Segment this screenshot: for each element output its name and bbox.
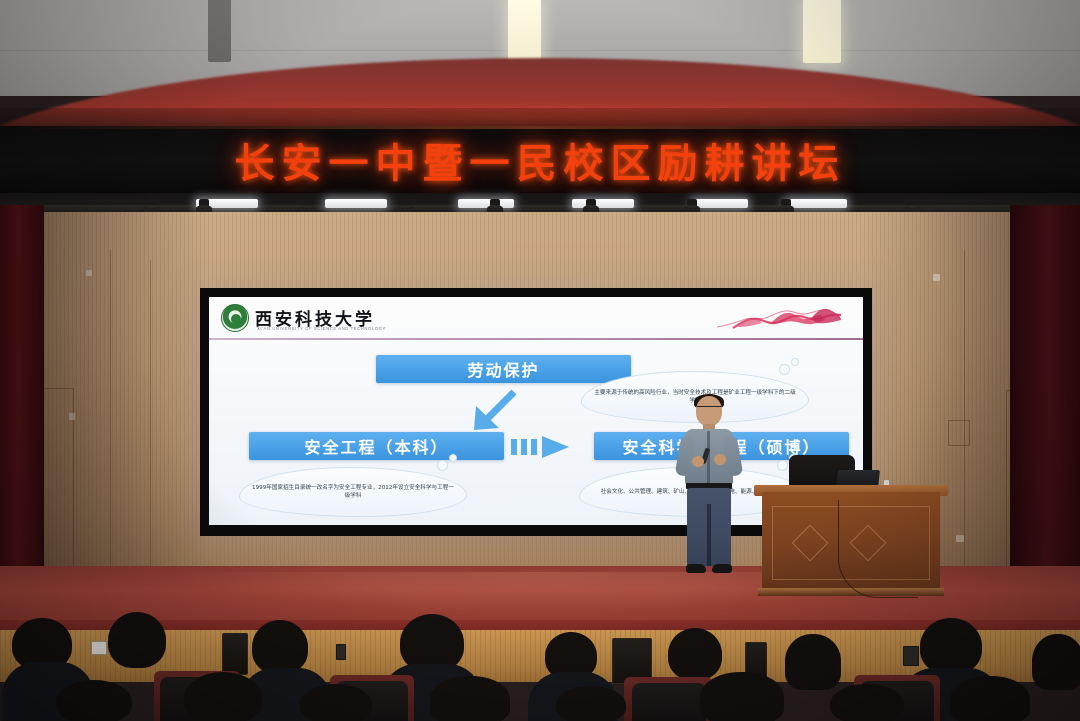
floor-cable — [838, 500, 918, 598]
audience-head-front — [830, 684, 904, 721]
audience-head-front — [556, 686, 626, 721]
audience-head-front — [300, 684, 372, 721]
led-banner: 长安一中暨一民校区励耕讲坛 — [0, 126, 1080, 194]
university-logo-icon — [221, 304, 249, 332]
audience-head — [1032, 634, 1080, 690]
led-banner-text: 长安一中暨一民校区励耕讲坛 — [235, 131, 846, 189]
header-divider — [209, 338, 863, 340]
slide-callout-bottom-left: 1999年国家招生目录统一改名字为安全工程专业，2012年设立安全科学与工程一级… — [239, 467, 467, 517]
striped-right-arrow-icon — [509, 435, 579, 459]
ceiling-light-strip-3 — [803, 0, 841, 63]
mountain-landscape-icon — [715, 306, 843, 332]
presenter-hand-left — [692, 456, 704, 467]
truss-led-strip — [572, 199, 634, 208]
presenter-leg-gap — [707, 504, 711, 566]
led-banner-gleam — [0, 126, 1080, 129]
truss-led-strip — [458, 199, 514, 208]
presenter-shoe-right — [712, 564, 732, 573]
truss-led-strip — [325, 199, 387, 208]
presenter-head — [696, 396, 722, 426]
audience-head-front — [430, 676, 510, 721]
slide-box-labor-protection: 劳动保护 — [376, 355, 631, 383]
stage-curtain-right — [1010, 205, 1080, 615]
ceiling-light-strip-2 — [508, 0, 541, 62]
audience-head — [108, 612, 166, 668]
audience-head-front — [56, 680, 132, 721]
presenter — [672, 396, 746, 582]
wall-speaker-left — [222, 633, 248, 675]
slide-header: 西安科技大学 XI'AN UNIVERSITY OF SCIENCE AND T… — [209, 297, 863, 339]
audience-seat-back — [632, 683, 706, 721]
glasses-icon — [697, 406, 721, 411]
audience-head-front — [184, 672, 262, 721]
presenter-shoe-left — [686, 564, 706, 573]
ceiling-light-strip-1 — [208, 0, 231, 62]
wall-panel-dark — [336, 644, 346, 660]
audience-head — [920, 618, 982, 674]
audience-head — [785, 634, 841, 690]
truss-led-strip — [692, 199, 748, 208]
presenter-hand-right — [714, 454, 726, 465]
wall-panel-dark — [903, 646, 919, 666]
wall-switch[interactable] — [91, 641, 107, 655]
audience-head — [252, 620, 308, 674]
auditorium-scene: 长安一中暨一民校区励耕讲坛 西安科技大学 XI'AN UNIVERSITY OF… — [0, 0, 1080, 721]
audience-head-front — [700, 672, 784, 721]
audience-head-front — [950, 676, 1030, 721]
down-left-arrow-icon — [464, 389, 524, 433]
slide-box-safety-engineering: 安全工程（本科） — [249, 432, 504, 460]
truss-led-strip — [785, 199, 847, 208]
audience-head — [668, 628, 722, 680]
university-subtitle: XI'AN UNIVERSITY OF SCIENCE AND TECHNOLO… — [257, 326, 386, 331]
stage-curtain-left — [0, 205, 44, 615]
